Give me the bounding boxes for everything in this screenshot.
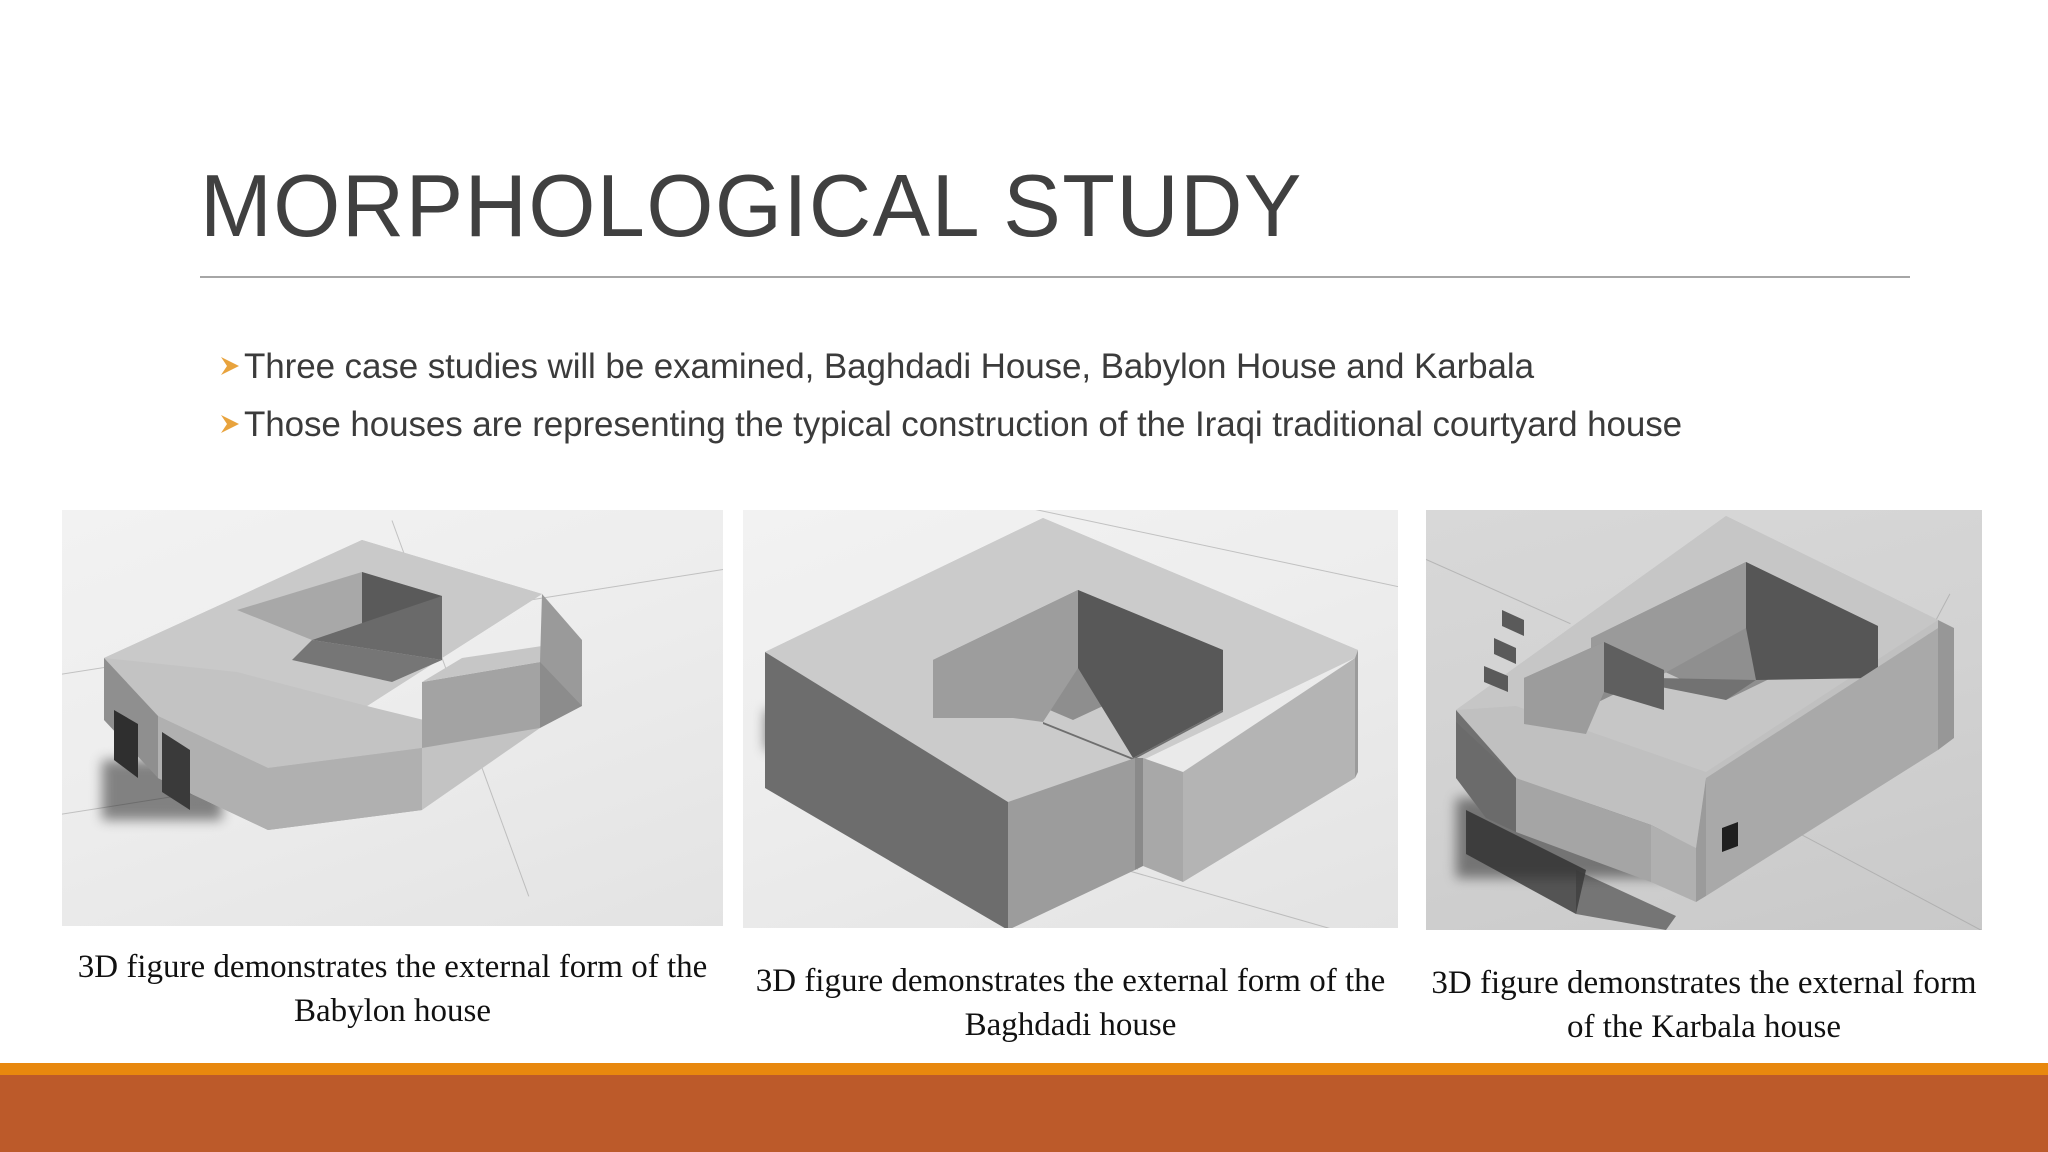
figure-baghdadi [743,510,1398,928]
footer-band [0,1075,2048,1152]
footer-accent-band [0,1063,2048,1075]
karbala-massing [1426,510,1982,930]
slide-canvas: MORPHOLOGICAL STUDY Three case studies w… [0,0,2048,1152]
figure-babylon-caption: 3D figure demonstrates the external form… [62,946,723,1033]
figure-karbala [1426,510,1982,930]
figure-baghdadi-caption: 3D figure demonstrates the external form… [743,960,1398,1047]
baghdadi-massing [743,510,1398,928]
figure-karbala-image [1426,510,1982,930]
figure-babylon [62,510,723,926]
babylon-massing [62,510,723,926]
figure-karbala-caption: 3D figure demonstrates the external form… [1426,962,1982,1049]
figure-baghdadi-image [743,510,1398,928]
figure-babylon-image [62,510,723,926]
figure-strip: 3D figure demonstrates the external form… [0,0,2048,1152]
